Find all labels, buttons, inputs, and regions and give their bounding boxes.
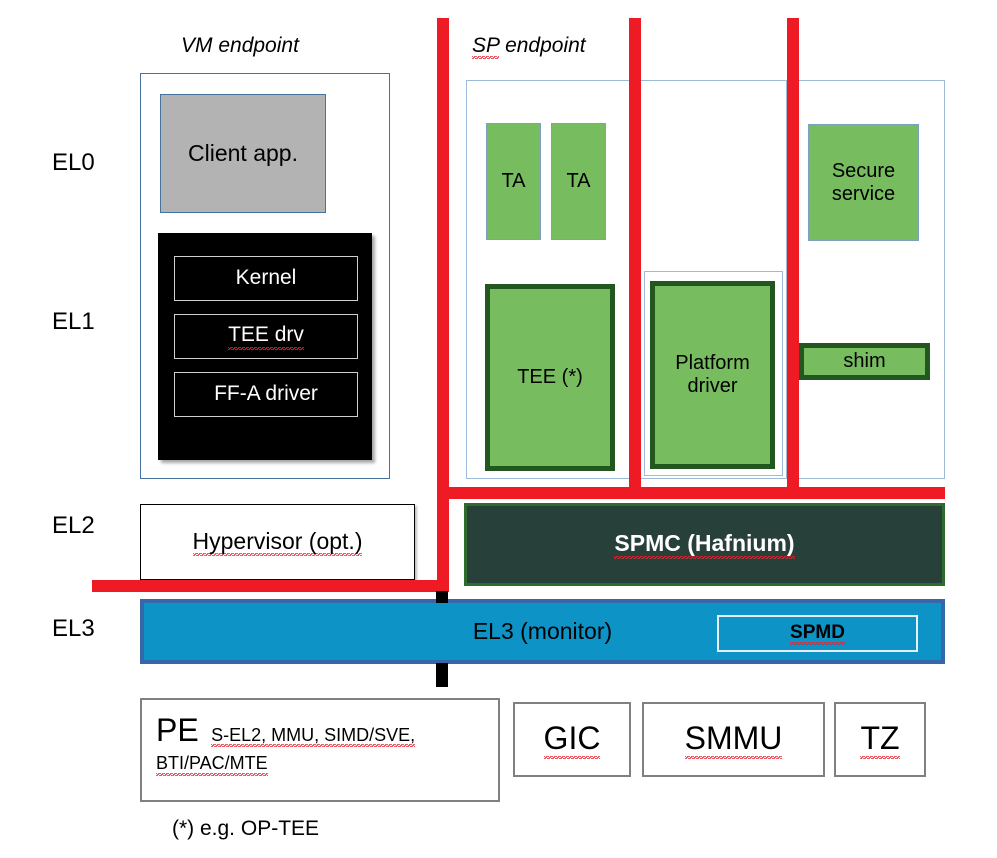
pe-features-line1: S-EL2, MMU, SIMD/SVE,: [211, 725, 415, 747]
black-connector-bottom: [436, 663, 448, 687]
spmd-label: SPMD: [790, 622, 845, 646]
client-app-box[interactable]: Client app.: [160, 94, 326, 213]
sp-endpoint-caption-word: SP: [472, 34, 499, 59]
red-divider-vertical-right: [787, 18, 799, 492]
spmc-label: SPMC (Hafnium): [614, 530, 794, 558]
tz-label: TZ: [860, 720, 899, 759]
el-label-el2: EL2: [52, 512, 95, 540]
el-label-el1: EL1: [52, 308, 95, 336]
kernel-box[interactable]: Kernel: [174, 256, 358, 301]
ffa-driver-box[interactable]: FF-A driver: [174, 372, 358, 417]
client-app-label: Client app.: [188, 140, 298, 166]
tee-box[interactable]: TEE (*): [485, 284, 615, 471]
shim-label: shim: [843, 350, 885, 373]
red-divider-horizontal-nonsecure: [92, 580, 449, 592]
hypervisor-box[interactable]: Hypervisor (opt.): [140, 504, 415, 580]
platform-driver-box[interactable]: Platform driver: [650, 281, 775, 469]
red-divider-vertical-nonsecure: [437, 487, 449, 592]
black-connector-top: [436, 591, 448, 603]
smmu-label: SMMU: [685, 720, 783, 759]
ta-box-left[interactable]: TA: [486, 123, 541, 240]
tee-label: TEE (*): [517, 366, 583, 389]
tz-box[interactable]: TZ: [834, 702, 926, 777]
secure-service-box[interactable]: Secure service: [808, 124, 919, 241]
platform-driver-label-line1: Platform: [675, 352, 749, 375]
pe-box[interactable]: PE S-EL2, MMU, SIMD/SVE, BTI/PAC/MTE: [140, 698, 500, 802]
platform-driver-label-line2: driver: [687, 375, 737, 398]
el-label-el0: EL0: [52, 149, 95, 177]
vm-endpoint-caption: VM endpoint: [181, 34, 299, 58]
pe-features-line2: BTI/PAC/MTE: [156, 753, 268, 776]
spmd-box[interactable]: SPMD: [717, 615, 918, 652]
red-divider-horizontal-secure: [437, 487, 945, 499]
hypervisor-label: Hypervisor (opt.): [193, 528, 363, 556]
tee-drv-box[interactable]: TEE drv: [174, 314, 358, 359]
gic-box[interactable]: GIC: [513, 702, 631, 777]
secure-service-label-line2: service: [832, 183, 895, 206]
kernel-label: Kernel: [236, 266, 297, 290]
pe-name: PE: [156, 712, 199, 748]
el-label-el3: EL3: [52, 615, 95, 643]
el3-monitor-bar[interactable]: EL3 (monitor) SPMD: [140, 599, 945, 664]
gic-label: GIC: [544, 720, 601, 759]
ffa-driver-label: FF-A driver: [214, 382, 318, 406]
red-divider-vertical-left: [437, 18, 449, 492]
tee-drv-label: TEE drv: [228, 323, 304, 349]
ta-left-label: TA: [501, 170, 525, 193]
ta-right-label: TA: [566, 170, 590, 193]
sp-endpoint-caption-rest: endpoint: [499, 34, 585, 57]
smmu-box[interactable]: SMMU: [642, 702, 825, 777]
sp-endpoint-caption: SP endpoint: [472, 34, 586, 58]
shim-box[interactable]: shim: [799, 343, 930, 380]
architecture-diagram: EL0 EL1 EL2 EL3 VM endpoint SP endpoint …: [0, 0, 997, 858]
footnote: (*) e.g. OP-TEE: [172, 817, 319, 841]
pe-content: PE S-EL2, MMU, SIMD/SVE, BTI/PAC/MTE: [156, 712, 492, 776]
kernel-stack-container: Kernel TEE drv FF-A driver: [158, 233, 372, 460]
el3-monitor-label: EL3 (monitor): [473, 618, 612, 644]
red-divider-vertical-middle: [629, 18, 641, 492]
spmc-box[interactable]: SPMC (Hafnium): [464, 503, 945, 586]
ta-box-right[interactable]: TA: [551, 123, 606, 240]
secure-service-label-line1: Secure: [832, 160, 895, 183]
